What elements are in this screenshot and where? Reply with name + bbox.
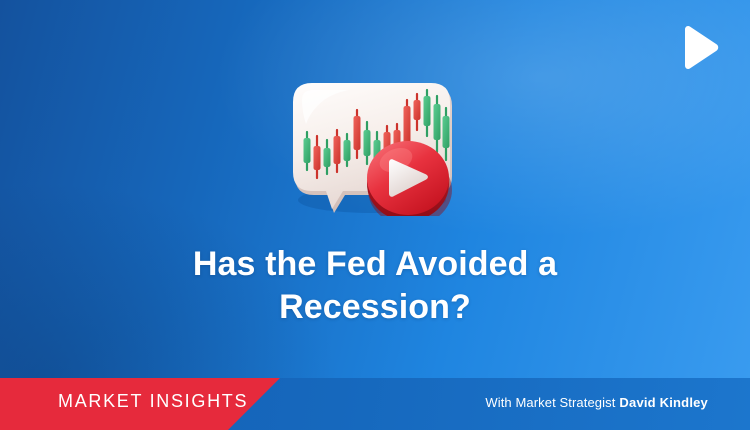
title-line-1: Has the Fed Avoided a	[0, 243, 750, 286]
brand-label: MARKET INSIGHTS	[58, 391, 248, 412]
footer-bar: MARKET INSIGHTS With Market StrategistDa…	[0, 378, 750, 430]
speech-bubble-candlestick-chart	[286, 74, 468, 216]
credit-label: With Market StrategistDavid Kindley	[485, 395, 708, 410]
video-thumbnail: Has the Fed Avoided a Recession? MARKET …	[0, 0, 750, 430]
play-triangle-icon[interactable]	[672, 22, 724, 74]
title-line-2: Recession?	[0, 286, 750, 329]
credit-prefix: With Market Strategist	[485, 395, 615, 410]
strategist-name: David Kindley	[619, 395, 708, 410]
page-title: Has the Fed Avoided a Recession?	[0, 243, 750, 329]
